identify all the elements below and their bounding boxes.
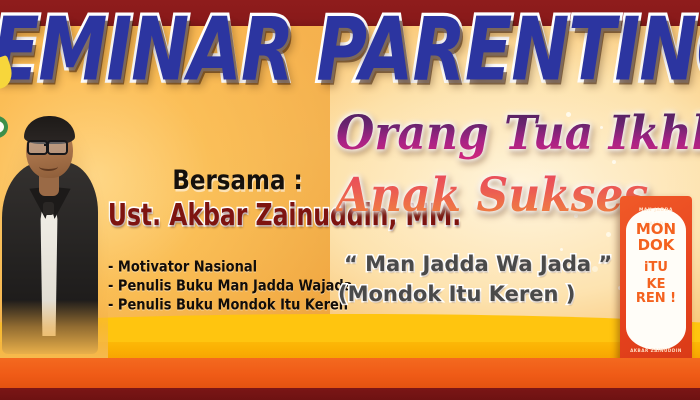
glasses-bridge-icon <box>44 144 48 146</box>
book-line-2: DOK <box>628 238 684 253</box>
book-line-4: KE <box>628 278 684 291</box>
subtitle-line-2: (Mondok Itu Keren ) <box>338 282 575 306</box>
subtitle-line-1: “ Man Jadda Wa Jada ” <box>344 252 612 276</box>
list-item: - Penulis Buku Mondok Itu Keren <box>108 294 353 316</box>
book-title-text: MON DOK iTU KE REN ! <box>628 222 684 305</box>
book-top-arc-text: MAN JADDA WAJADA <box>630 204 682 218</box>
book-line-3: iTU <box>628 261 684 274</box>
photo-smile <box>39 162 58 171</box>
book-line-1: MON <box>628 222 684 237</box>
glasses-right-lens-icon <box>47 140 68 155</box>
book-dot-inner <box>0 121 4 133</box>
photo-tie-knot <box>43 202 54 215</box>
photo-bottom-fade <box>0 300 108 358</box>
book-cover-badge: MAN JADDA WAJADA MON DOK iTU KE REN ! AK… <box>620 196 692 364</box>
bersama-label: Bersama : <box>120 166 355 196</box>
bottom-maroon-band <box>0 386 700 400</box>
book-bottom-arc-text: AKBAR ZAINUDDIN <box>630 345 682 357</box>
book-line-5: REN ! <box>628 292 684 305</box>
speaker-name: Ust. Akbar Zainuddin, MM. <box>108 197 354 232</box>
headline-line-2: Anak Sukses <box>336 168 648 222</box>
banner-title-wrap: SEMINAR PARENTING <box>0 6 700 94</box>
seminar-parenting-banner: SEMINAR PARENTING Bersama : Ust. Akbar Z… <box>0 0 700 400</box>
page-title: SEMINAR PARENTING <box>0 0 700 101</box>
glasses-left-lens-icon <box>27 140 48 155</box>
headline-line-1: Orang Tua Ikhlas <box>336 106 700 160</box>
speaker-photo <box>0 104 108 352</box>
info-bar <box>0 358 700 388</box>
speaker-credentials-list: - Motivator Nasional - Penulis Buku Man … <box>108 258 353 315</box>
